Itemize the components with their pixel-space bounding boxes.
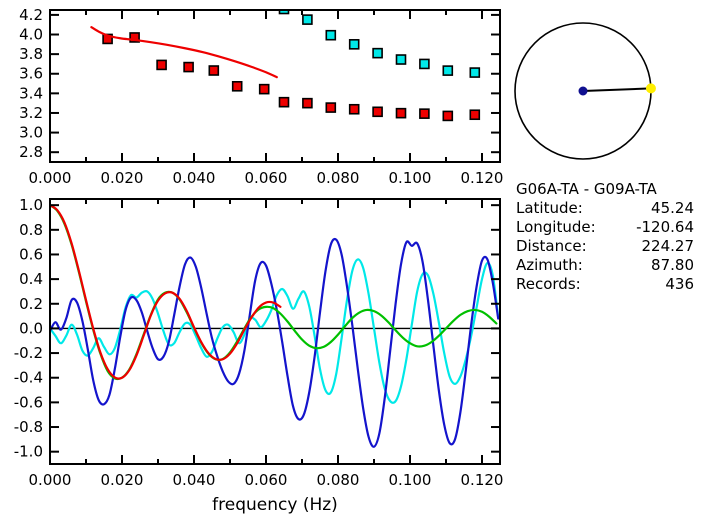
info-label: Longitude:	[516, 218, 596, 236]
x-tick-label: 0.060	[245, 471, 288, 489]
data-marker	[303, 15, 312, 24]
x-tick-label: 0.100	[389, 169, 432, 187]
x-tick-label: 0.020	[101, 169, 144, 187]
x-tick-label: 0.000	[29, 169, 72, 187]
azimuth-circle-inset	[515, 23, 655, 159]
data-marker	[397, 109, 406, 118]
data-marker	[470, 68, 479, 77]
info-value: 87.80	[651, 256, 694, 274]
data-marker	[280, 98, 289, 107]
info-value: -120.64	[636, 218, 694, 236]
event-dot	[646, 84, 655, 93]
y-tick-label: 0.2	[19, 295, 43, 313]
data-marker	[373, 49, 382, 58]
data-marker	[326, 103, 335, 112]
data-marker	[443, 111, 452, 120]
y-tick-label: 3.4	[19, 84, 43, 102]
x-tick-label: 0.040	[173, 169, 216, 187]
info-label: Records:	[516, 275, 581, 293]
y-tick-label: 1.0	[19, 196, 43, 214]
data-marker	[209, 66, 218, 75]
x-tick-label: 0.040	[173, 471, 216, 489]
x-tick-label: 0.060	[245, 169, 288, 187]
x-tick-label: 0.120	[461, 471, 504, 489]
info-label: Azimuth:	[516, 256, 583, 274]
y-tick-label: 3.2	[19, 104, 43, 122]
info-panel: G06A-TA - G09A-TALatitude:45.24Longitude…	[516, 180, 694, 293]
data-marker	[260, 85, 269, 94]
data-marker	[326, 31, 335, 40]
y-tick-label: -1.0	[14, 443, 43, 461]
y-tick-label: -0.6	[14, 393, 43, 411]
info-label: Distance:	[516, 237, 587, 255]
data-marker	[184, 63, 193, 72]
spectra-panel	[50, 205, 500, 447]
spectra-data	[50, 205, 500, 447]
data-marker	[350, 40, 359, 49]
x-tick-label: 0.080	[317, 169, 360, 187]
data-marker	[157, 60, 166, 69]
dispersion-panel	[91, 5, 479, 121]
azimuth-ray	[583, 88, 651, 91]
data-marker	[420, 109, 429, 118]
data-marker	[350, 105, 359, 114]
x-tick-label: 0.120	[461, 169, 504, 187]
lower-branch-red-squares	[103, 33, 479, 120]
y-tick-label: 4.2	[19, 6, 43, 24]
x-axis-title: frequency (Hz)	[212, 495, 338, 515]
y-tick-label: -0.8	[14, 418, 43, 436]
x-tick-label: 0.000	[29, 471, 72, 489]
dispersion-data	[91, 5, 479, 121]
y-tick-label: 0.0	[19, 319, 43, 337]
data-marker	[470, 110, 479, 119]
x-tick-label: 0.020	[101, 471, 144, 489]
data-marker	[373, 107, 382, 116]
info-value: 224.27	[642, 237, 695, 255]
scientific-figure: 2.83.03.23.43.63.84.04.20.0000.0200.0400…	[0, 0, 703, 520]
y-tick-label: 3.6	[19, 65, 43, 83]
y-tick-label: -0.2	[14, 344, 43, 362]
y-tick-label: 0.8	[19, 221, 43, 239]
x-tick-label: 0.100	[389, 471, 432, 489]
dispersion-frame: 2.83.03.23.43.63.84.04.20.0000.0200.0400…	[19, 6, 503, 187]
y-tick-label: 3.8	[19, 45, 43, 63]
data-marker	[303, 99, 312, 108]
data-marker	[420, 59, 429, 68]
station-pair-title: G06A-TA - G09A-TA	[516, 180, 658, 198]
y-tick-label: 0.4	[19, 270, 43, 288]
x-tick-label: 0.080	[317, 471, 360, 489]
y-tick-label: 3.0	[19, 124, 43, 142]
info-value: 45.24	[651, 199, 694, 217]
upper-branch-cyan-squares	[280, 5, 480, 78]
data-marker	[397, 55, 406, 64]
y-tick-label: 2.8	[19, 143, 43, 161]
station-dot	[579, 87, 587, 95]
y-tick-label: 0.6	[19, 245, 43, 263]
data-marker	[233, 82, 242, 91]
figure-root: 2.83.03.23.43.63.84.04.20.0000.0200.0400…	[0, 0, 703, 520]
info-value: 436	[665, 275, 694, 293]
y-tick-label: 4.0	[19, 26, 43, 44]
y-tick-label: -0.4	[14, 369, 43, 387]
info-label: Latitude:	[516, 199, 583, 217]
data-marker	[443, 66, 452, 75]
